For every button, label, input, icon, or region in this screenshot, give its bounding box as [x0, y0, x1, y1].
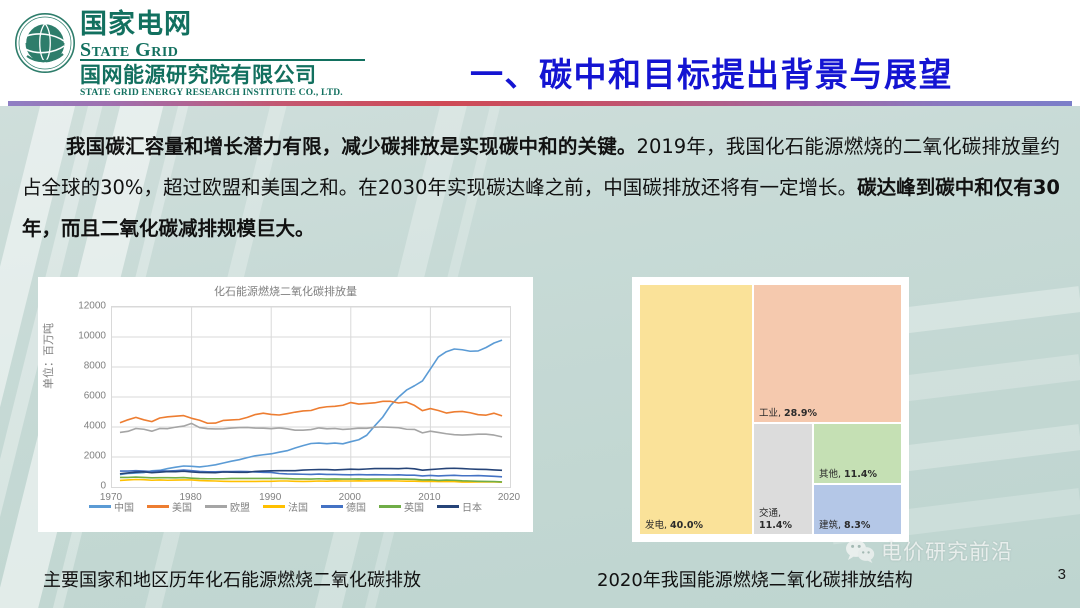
line-chart-plot-wrapper: 0200040006000800010000120001970198019902… — [111, 306, 511, 488]
line-chart-panel: 化石能源燃烧二氧化碳排放量 单位：百万吨 0200040006000800010… — [38, 277, 533, 532]
legend-item-法国[interactable]: 法国 — [263, 499, 308, 514]
treemap-tile-其他[interactable]: 其他, 11.4% — [813, 423, 902, 484]
logo-divider — [80, 59, 365, 61]
line-chart-legend: 中国美国欧盟法国德国英国日本 — [38, 499, 533, 514]
presentation-slide: 国家电网 State Grid 国网能源研究院有限公司 STATE GRID E… — [0, 0, 1080, 608]
legend-swatch — [379, 505, 401, 507]
watermark: 电价研究前沿 — [845, 536, 1013, 566]
treemap-chart-panel: 发电, 40.0%工业, 28.9%交通,11.4%其他, 11.4%建筑, 8… — [632, 277, 909, 542]
state-grid-logo-block: 国家电网 State Grid 国网能源研究院有限公司 STATE GRID E… — [12, 6, 372, 100]
brand-name-en: State Grid — [80, 40, 370, 61]
line-series-中国 — [120, 340, 502, 474]
y-axis-tick: 4000 — [50, 421, 106, 432]
legend-swatch — [205, 505, 227, 507]
legend-swatch — [321, 505, 343, 507]
y-axis-tick: 8000 — [50, 361, 106, 372]
legend-swatch — [437, 505, 459, 507]
brand-name-cn: 国家电网 — [80, 10, 370, 40]
treemap-tile-label: 建筑, 8.3% — [819, 520, 870, 532]
legend-label: 日本 — [462, 499, 482, 514]
paragraph-run-0: 我国碳汇容量和增长潜力有限，减少碳排放是实现碳中和的关键。 — [66, 135, 637, 158]
y-axis-tick: 0 — [50, 481, 106, 492]
line-series-美国 — [120, 401, 502, 423]
state-grid-globe-icon — [14, 12, 76, 74]
legend-item-欧盟[interactable]: 欧盟 — [205, 499, 250, 514]
slide-header: 国家电网 State Grid 国网能源研究院有限公司 STATE GRID E… — [0, 0, 1080, 104]
line-series-日本 — [120, 468, 502, 474]
y-axis-tick: 2000 — [50, 451, 106, 462]
legend-item-德国[interactable]: 德国 — [321, 499, 366, 514]
institute-name-block: 国网能源研究院有限公司 STATE GRID ENERGY RESEARCH I… — [80, 63, 380, 99]
header-gradient-divider — [8, 101, 1072, 106]
legend-label: 德国 — [346, 499, 366, 514]
legend-swatch — [147, 505, 169, 507]
line-chart-title: 化石能源燃烧二氧化碳排放量 — [38, 283, 533, 299]
treemap-tile-label: 工业, 28.9% — [759, 408, 817, 420]
y-axis-tick: 6000 — [50, 391, 106, 402]
state-grid-wordmark: 国家电网 State Grid — [80, 10, 370, 61]
institute-name-en: STATE GRID ENERGY RESEARCH INSTITUTE CO.… — [80, 87, 380, 99]
line-chart-plot-area — [111, 306, 511, 488]
institute-name-cn: 国网能源研究院有限公司 — [80, 63, 380, 87]
treemap-tile-label: 其他, 11.4% — [819, 469, 877, 481]
legend-label: 法国 — [288, 499, 308, 514]
legend-swatch — [263, 505, 285, 507]
wechat-icon — [845, 539, 875, 563]
legend-label: 美国 — [172, 499, 192, 514]
legend-item-日本[interactable]: 日本 — [437, 499, 482, 514]
page-number: 3 — [1058, 566, 1066, 583]
treemap-tile-建筑[interactable]: 建筑, 8.3% — [813, 484, 902, 535]
treemap-tile-label: 发电, 40.0% — [645, 520, 703, 532]
treemap-tile-发电[interactable]: 发电, 40.0% — [639, 284, 753, 535]
slide-body-paragraph: 我国碳汇容量和增长潜力有限，减少碳排放是实现碳中和的关键。2019年，我国化石能… — [22, 126, 1060, 249]
legend-item-英国[interactable]: 英国 — [379, 499, 424, 514]
legend-label: 英国 — [404, 499, 424, 514]
y-axis-tick: 10000 — [50, 331, 106, 342]
line-series-欧盟 — [120, 423, 502, 437]
right-chart-caption: 2020年我国能源燃烧二氧化碳排放结构 — [597, 566, 913, 592]
legend-item-中国[interactable]: 中国 — [89, 499, 134, 514]
legend-item-美国[interactable]: 美国 — [147, 499, 192, 514]
treemap-tile-label: 交通,11.4% — [759, 508, 792, 532]
y-axis-tick: 12000 — [50, 301, 106, 312]
treemap-tiles-container: 发电, 40.0%工业, 28.9%交通,11.4%其他, 11.4%建筑, 8… — [639, 284, 902, 535]
left-chart-caption: 主要国家和地区历年化石能源燃烧二氧化碳排放 — [43, 566, 421, 592]
treemap-tile-交通[interactable]: 交通,11.4% — [753, 423, 813, 535]
watermark-text: 电价研究前沿 — [881, 536, 1013, 566]
slide-title: 一、碳中和目标提出背景与展望 — [470, 48, 953, 96]
legend-label: 欧盟 — [230, 499, 250, 514]
legend-label: 中国 — [114, 499, 134, 514]
background-band — [880, 424, 1080, 474]
treemap-tile-工业[interactable]: 工业, 28.9% — [753, 284, 902, 423]
legend-swatch — [89, 505, 111, 507]
line-chart-series-svg — [112, 307, 510, 487]
